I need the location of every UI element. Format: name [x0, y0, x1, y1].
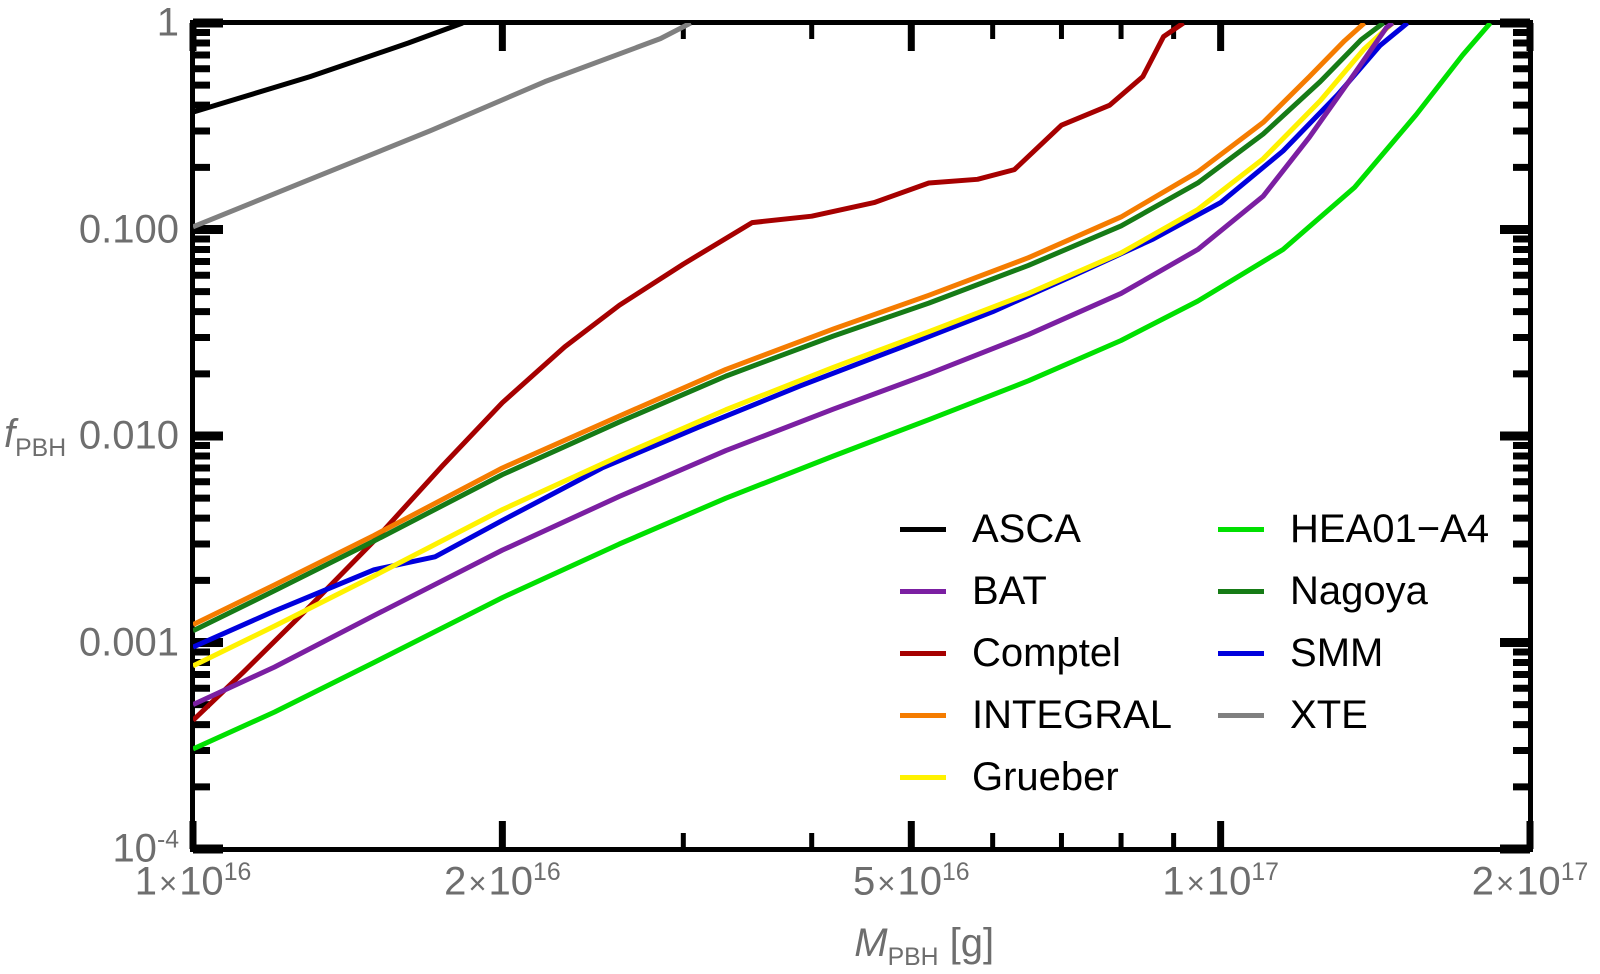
legend-swatch-icon	[900, 527, 946, 532]
legend-label: XTE	[1290, 695, 1368, 735]
legend-label: BAT	[972, 571, 1047, 611]
legend-column-2: HEA01−A4NagoyaSMMXTE	[1218, 498, 1489, 808]
plot-canvas	[0, 0, 1600, 974]
legend-swatch-icon	[1218, 589, 1264, 594]
legend-label: HEA01−A4	[1290, 509, 1489, 549]
x-tick-label: 2×1016	[444, 859, 561, 904]
y-tick-label: 0.010	[79, 414, 179, 459]
legend-label: ASCA	[972, 509, 1081, 549]
curve-asca	[193, 23, 463, 112]
x-tick-label: 5×1016	[853, 859, 970, 904]
y-tick-label: 10-4	[112, 826, 179, 871]
legend-swatch-icon	[900, 651, 946, 656]
legend: ASCABATComptelINTEGRALGrueber HEA01−A4Na…	[900, 498, 1489, 808]
y-tick-label: 0.100	[79, 207, 179, 252]
legend-column-1: ASCABATComptelINTEGRALGrueber	[900, 498, 1172, 808]
legend-swatch-icon	[900, 589, 946, 594]
legend-item-hea01-a4[interactable]: HEA01−A4	[1218, 498, 1489, 560]
y-tick-label: 0.001	[79, 620, 179, 665]
legend-label: Grueber	[972, 757, 1119, 797]
y-tick-label: 1	[157, 1, 179, 46]
legend-label: INTEGRAL	[972, 695, 1172, 735]
x-tick-label: 1×1017	[1162, 859, 1279, 904]
y-axis-title: fPBH	[4, 412, 66, 463]
curve-xte	[193, 23, 691, 227]
legend-item-xte[interactable]: XTE	[1218, 684, 1489, 746]
legend-item-smm[interactable]: SMM	[1218, 622, 1489, 684]
figure-root: 1×10162×10165×10161×10172×1017 10.1000.0…	[0, 0, 1600, 974]
legend-swatch-icon	[900, 713, 946, 718]
x-tick-label: 2×1017	[1472, 859, 1589, 904]
legend-swatch-icon	[1218, 651, 1264, 656]
legend-label: SMM	[1290, 633, 1383, 673]
legend-label: Nagoya	[1290, 571, 1428, 611]
legend-swatch-icon	[1218, 527, 1264, 532]
x-axis-title: MPBH [g]	[854, 921, 994, 972]
legend-item-bat[interactable]: BAT	[900, 560, 1172, 622]
legend-item-grueber[interactable]: Grueber	[900, 746, 1172, 808]
legend-swatch-icon	[1218, 713, 1264, 718]
legend-swatch-icon	[900, 775, 946, 780]
legend-item-nagoya[interactable]: Nagoya	[1218, 560, 1489, 622]
legend-label: Comptel	[972, 633, 1121, 673]
legend-item-integral[interactable]: INTEGRAL	[900, 684, 1172, 746]
legend-item-comptel[interactable]: Comptel	[900, 622, 1172, 684]
legend-item-asca[interactable]: ASCA	[900, 498, 1172, 560]
